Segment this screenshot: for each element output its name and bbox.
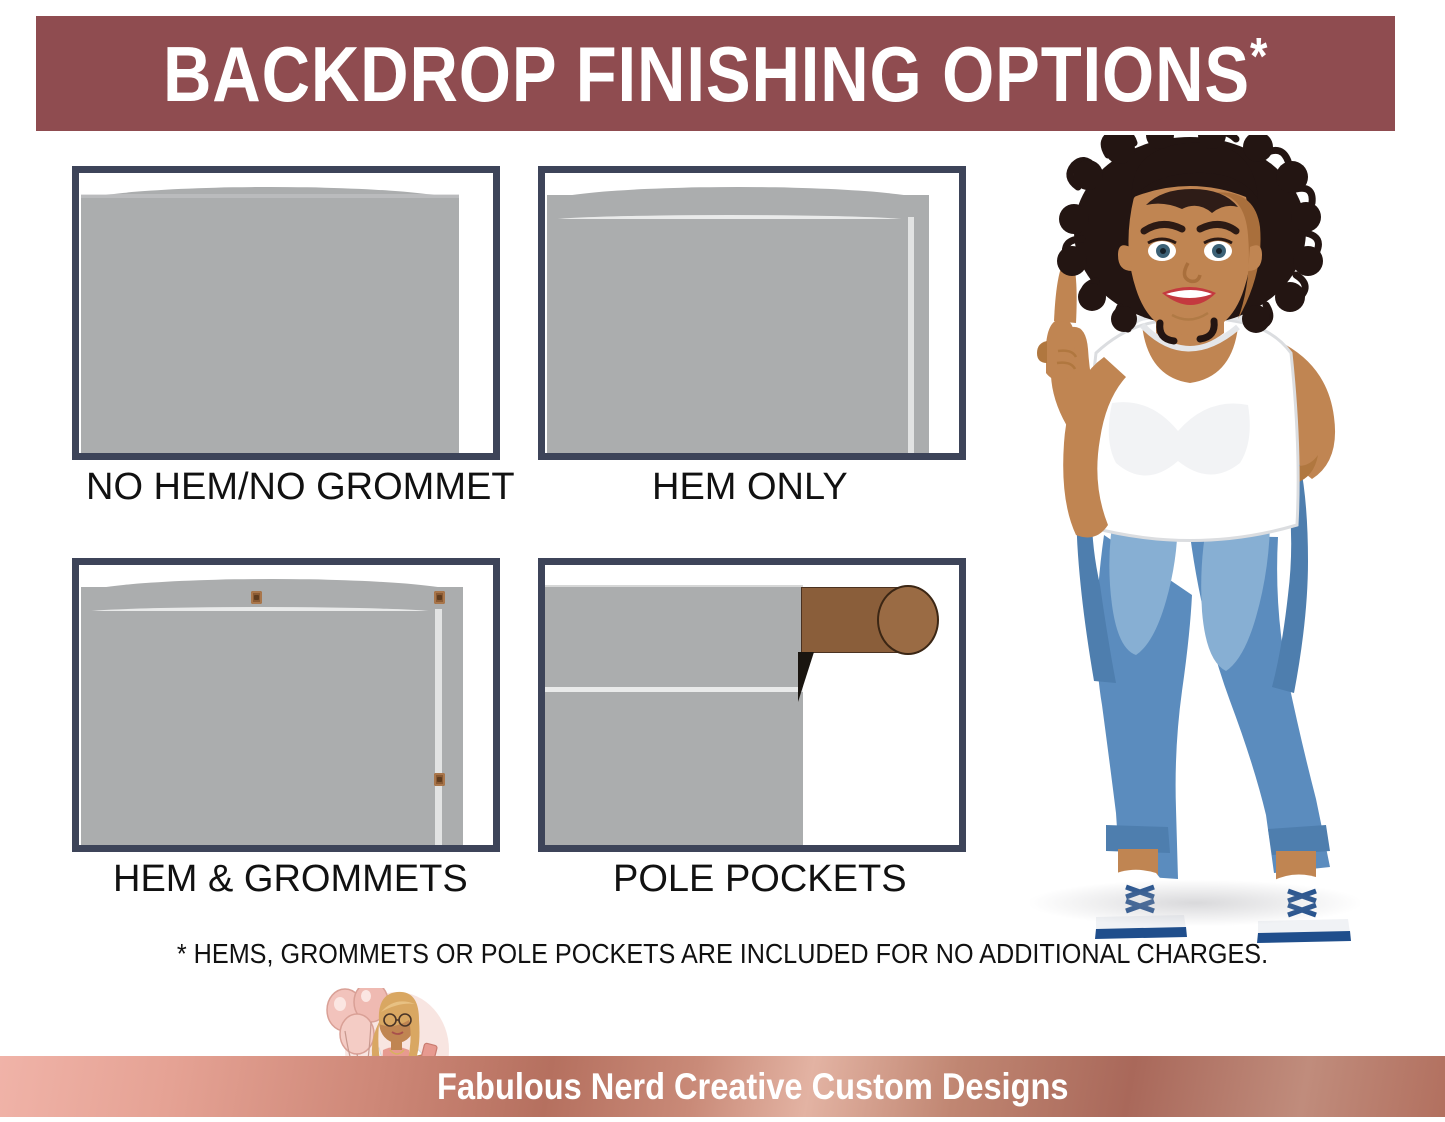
panel-pole-pockets: [538, 558, 966, 852]
panel-hem-and-grommets: [72, 558, 500, 852]
panel-label-no-hem-no-grommet: NO HEM/NO GROMMET: [86, 466, 515, 509]
title-asterisk: *: [1250, 28, 1268, 86]
pole-pocket-sleeve: [545, 587, 803, 687]
poster-root: BACKDROP FINISHING OPTIONS* NO HEM/NO GR…: [0, 0, 1445, 1117]
hem-fold-line-right: [435, 609, 442, 845]
hem-fold-line-right: [908, 217, 914, 453]
backdrop-fabric: [81, 195, 459, 453]
panel-inner: [545, 565, 959, 845]
header-banner: BACKDROP FINISHING OPTIONS*: [36, 16, 1395, 131]
pupil-right: [1216, 248, 1222, 254]
panel-inner: [545, 173, 959, 453]
page-title-text: BACKDROP FINISHING OPTIONS: [163, 30, 1250, 118]
backdrop-fabric: [545, 692, 803, 845]
panel-inner: [79, 173, 493, 453]
panel-label-pole-pockets: POLE POCKETS: [613, 858, 907, 901]
page-title: BACKDROP FINISHING OPTIONS*: [163, 35, 1268, 113]
grommet-top-right: [434, 591, 445, 604]
fabric-top-curve: [81, 579, 463, 595]
pole-shadow: [798, 652, 814, 702]
fabric-top-curve: [547, 187, 929, 203]
woman-svg: [1000, 135, 1390, 950]
grommet-bottom-right: [434, 773, 445, 786]
fabric-inner-face: [547, 219, 912, 453]
pupil-left: [1160, 248, 1166, 254]
ground-shadow: [1030, 880, 1360, 926]
woman-pointing-illustration: [1000, 135, 1390, 950]
panel-inner: [79, 565, 493, 845]
grommet-top-center: [251, 591, 262, 604]
fabric-top-shade: [81, 194, 459, 198]
pole-end-cap: [877, 585, 939, 655]
fabric-inner-face: [81, 611, 439, 845]
panel-label-hem-only: HEM ONLY: [652, 466, 848, 509]
thumb-left: [1037, 341, 1047, 363]
jeans-cuff-right: [1268, 825, 1330, 855]
panel-no-hem-no-grommet: [72, 166, 500, 460]
panel-hem-only: [538, 166, 966, 460]
panel-label-hem-and-grommets: HEM & GROMMETS: [113, 858, 468, 901]
footer-brand: Fabulous Nerd Creative Custom Designs: [437, 1066, 1068, 1108]
jeans-cuff-left: [1106, 825, 1170, 853]
footer-bar: Fabulous Nerd Creative Custom Designs: [0, 1056, 1445, 1117]
